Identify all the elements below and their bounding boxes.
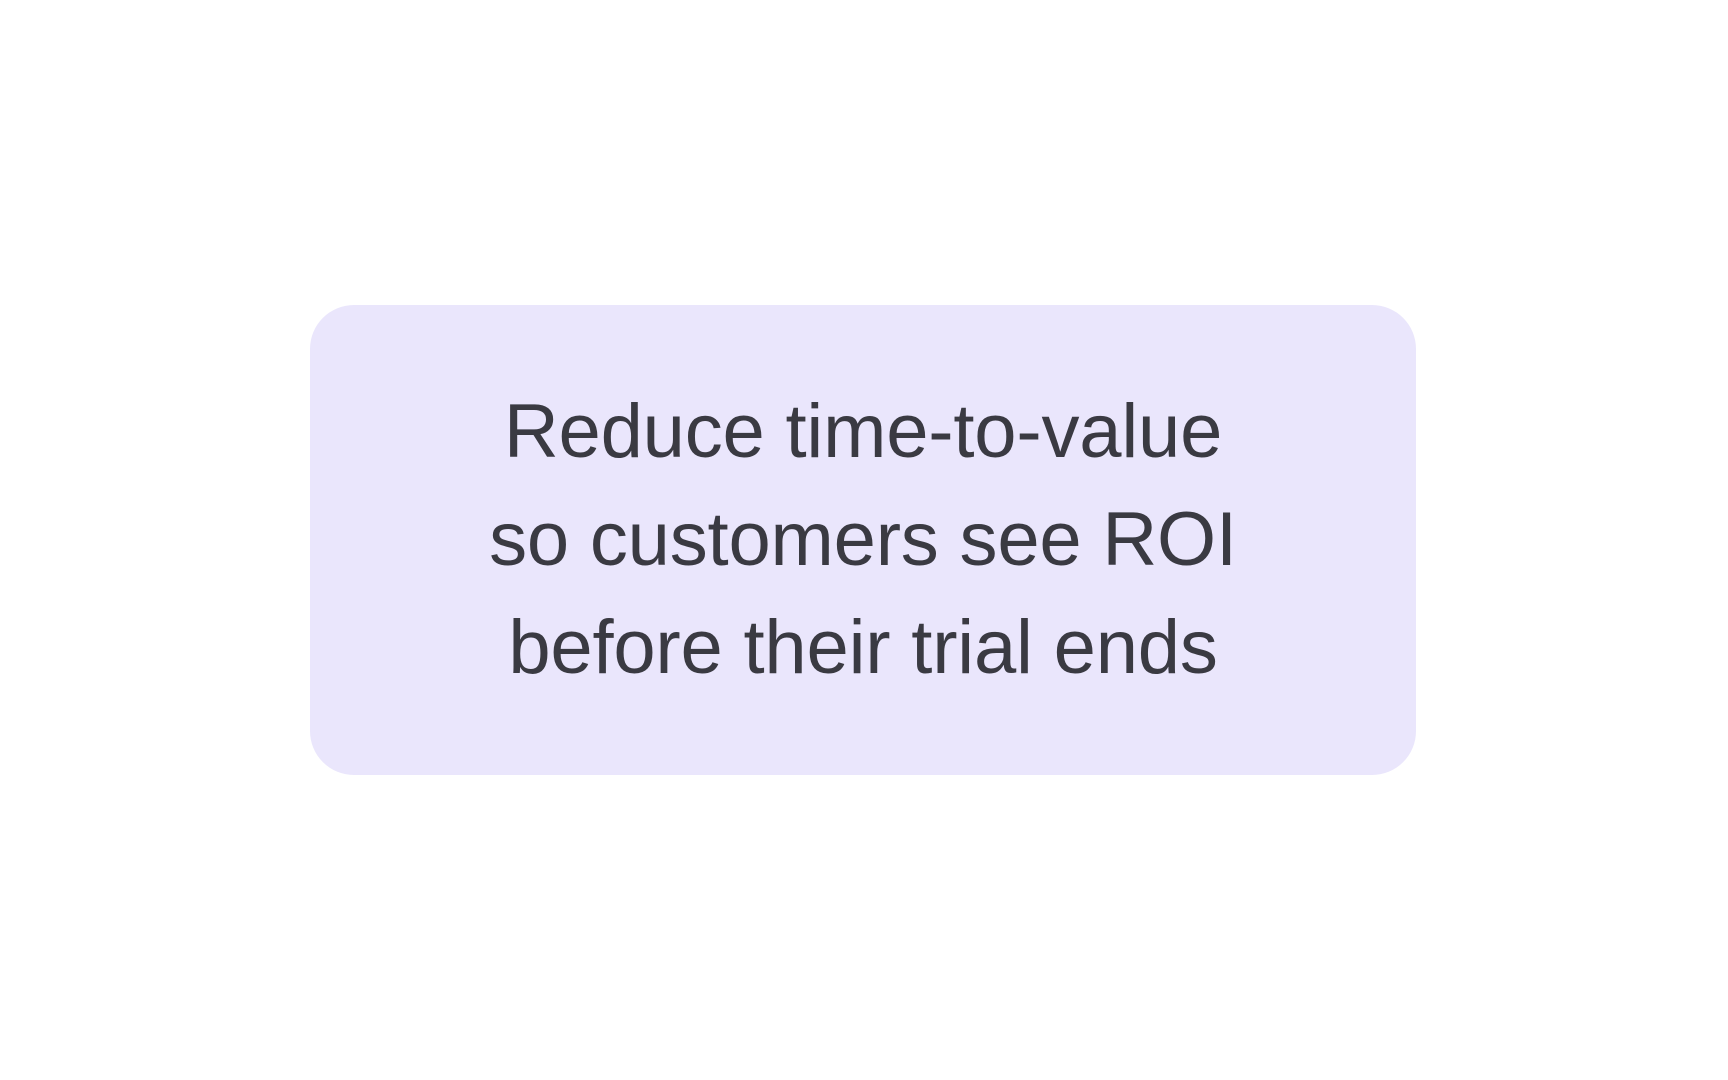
canvas: Reduce time-to-value so customers see RO… xyxy=(0,0,1728,1080)
note-card-text: Reduce time-to-value so customers see RO… xyxy=(374,378,1352,702)
note-card[interactable]: Reduce time-to-value so customers see RO… xyxy=(310,305,1416,775)
